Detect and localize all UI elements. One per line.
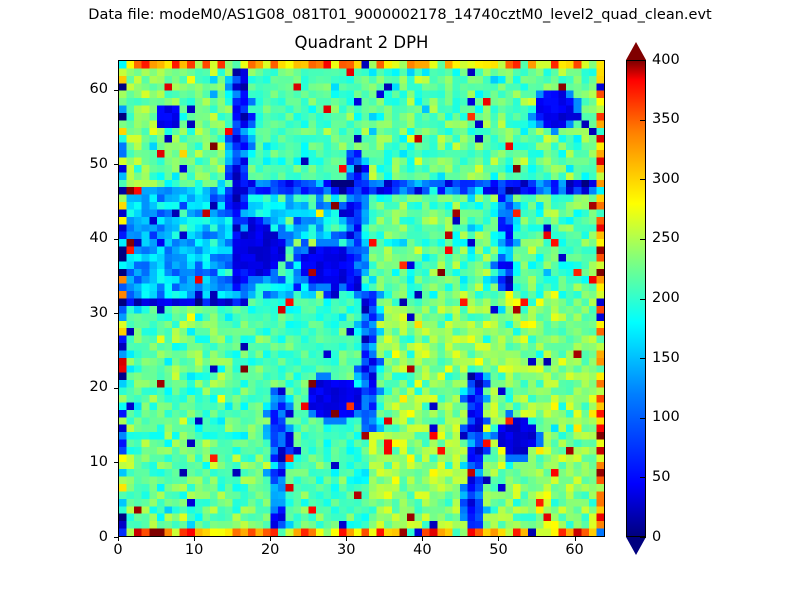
colorbar-tick: [640, 60, 646, 61]
colorbar-tick-label: 150: [652, 350, 680, 367]
y-tick-label: 30: [58, 305, 108, 322]
y-tick: [114, 388, 118, 389]
colorbar-tick-label: 250: [652, 230, 680, 247]
x-tick-label: 50: [468, 542, 528, 559]
x-tick-label: 60: [545, 542, 605, 559]
colorbar-tick: [640, 239, 646, 240]
x-tick: [498, 537, 499, 541]
y-tick: [114, 313, 118, 314]
x-tick-label: 40: [392, 542, 452, 559]
y-tick: [114, 537, 118, 538]
x-tick: [346, 537, 347, 541]
colorbar-tick: [640, 358, 646, 359]
colorbar-tick: [640, 418, 646, 419]
colorbar-tick: [640, 179, 646, 180]
colorbar-over-arrow: [626, 42, 646, 60]
y-tick-label: 50: [58, 156, 108, 173]
colorbar-tick: [640, 477, 646, 478]
x-tick-label: 30: [316, 542, 376, 559]
colorbar-tick: [640, 120, 646, 121]
x-tick-label: 10: [164, 542, 224, 559]
y-tick-label: 60: [58, 81, 108, 98]
colorbar-tick-label: 350: [652, 111, 680, 128]
y-tick-label: 10: [58, 454, 108, 471]
data-file-label: Data file: modeM0/AS1G08_081T01_90000021…: [0, 6, 800, 24]
colorbar-tick: [640, 299, 646, 300]
colorbar-tick-label: 0: [652, 529, 661, 546]
colorbar-under-arrow: [626, 537, 646, 555]
x-tick: [422, 537, 423, 541]
colorbar-tick-label: 300: [652, 171, 680, 188]
heatmap-image: [119, 61, 604, 536]
y-tick-label: 20: [58, 379, 108, 396]
y-tick-label: 0: [58, 529, 108, 546]
colorbar-tick-label: 200: [652, 290, 680, 307]
colorbar-tick: [640, 537, 646, 538]
y-tick-label: 40: [58, 230, 108, 247]
y-tick: [114, 462, 118, 463]
colorbar-tick-label: 400: [652, 52, 680, 69]
x-tick: [575, 537, 576, 541]
y-tick: [114, 239, 118, 240]
x-tick: [270, 537, 271, 541]
x-tick: [118, 537, 119, 541]
colorbar-tick-label: 100: [652, 409, 680, 426]
y-tick: [114, 164, 118, 165]
page-title: Quadrant 2 DPH: [118, 33, 605, 53]
colorbar-tick-label: 50: [652, 469, 670, 486]
x-tick: [194, 537, 195, 541]
figure-canvas: Data file: modeM0/AS1G08_081T01_90000021…: [0, 0, 800, 600]
heatmap-axes: [118, 60, 605, 537]
y-tick: [114, 90, 118, 91]
x-tick-label: 20: [240, 542, 300, 559]
